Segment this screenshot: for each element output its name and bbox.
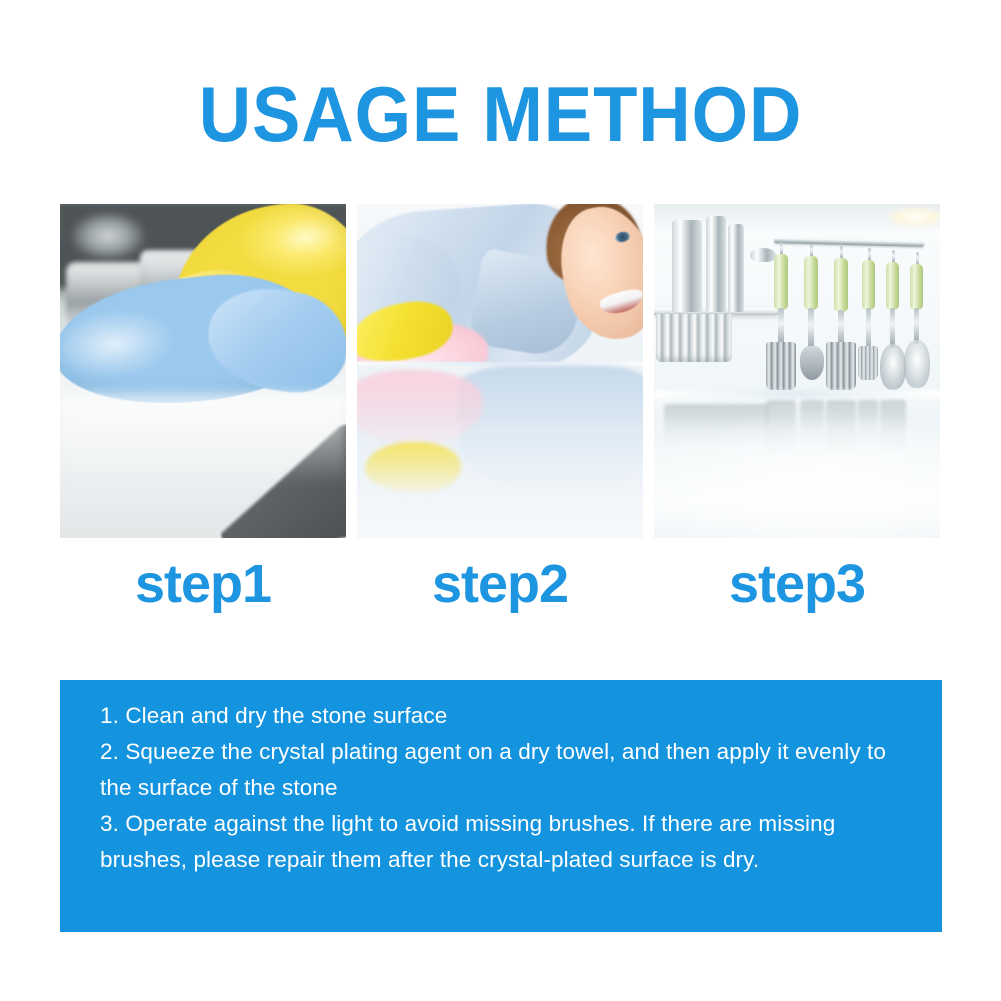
utensil-handle-3	[834, 258, 848, 312]
countertop-glow	[654, 410, 940, 538]
utensil-handle-2	[804, 256, 818, 310]
utensil-turner-3	[826, 342, 856, 390]
step-label-3: step3	[654, 552, 940, 620]
instruction-box: 1. Clean and dry the stone surface 2. Sq…	[60, 680, 942, 932]
utensil-handle-1	[774, 254, 788, 310]
glove-reflection	[365, 442, 461, 492]
utensil-spoon-2	[800, 346, 824, 380]
utensil-whisk-6	[904, 340, 930, 388]
step3-image	[654, 204, 940, 538]
utensil-neck-1	[778, 308, 784, 346]
instruction-line-1: 1. Clean and dry the stone surface	[100, 698, 908, 734]
utensil-neck-6	[914, 308, 919, 344]
step1-image	[60, 204, 346, 538]
utensil-neck-2	[808, 308, 814, 350]
standing-skimmer	[728, 224, 744, 312]
instruction-line-3: 3. Operate against the light to avoid mi…	[100, 806, 908, 878]
step-label-2: step2	[357, 552, 643, 620]
utensil-fork-4	[858, 346, 878, 380]
usage-method-infographic: USAGE METHOD	[0, 0, 1001, 1001]
utensil-neck-3	[838, 310, 844, 346]
countertop-sheen	[60, 394, 346, 484]
standing-ladle	[750, 248, 776, 262]
utensil-handle-6	[910, 264, 923, 310]
standing-slotted-spoon	[672, 220, 702, 312]
step-label-row: step1 step2 step3	[60, 552, 941, 620]
utensil-turner-1	[766, 342, 796, 390]
utensil-holder	[656, 314, 732, 362]
shirt-reflection	[457, 366, 643, 486]
utensil-handle-4	[862, 260, 875, 310]
ceiling-light	[890, 208, 940, 226]
step-label-1: step1	[60, 552, 346, 620]
countertop-highlight	[654, 390, 940, 398]
standing-masher	[706, 216, 726, 312]
utensil-neck-5	[890, 308, 895, 348]
page-title: USAGE METHOD	[35, 72, 966, 156]
surface-highlight-line	[357, 362, 643, 365]
step2-image	[357, 204, 643, 538]
utensil-handle-5	[886, 262, 899, 310]
utensil-whisk-5	[880, 344, 906, 390]
step-image-row	[60, 204, 941, 538]
utensil-rail	[774, 238, 924, 247]
instruction-line-2: 2. Squeeze the crystal plating agent on …	[100, 734, 908, 806]
